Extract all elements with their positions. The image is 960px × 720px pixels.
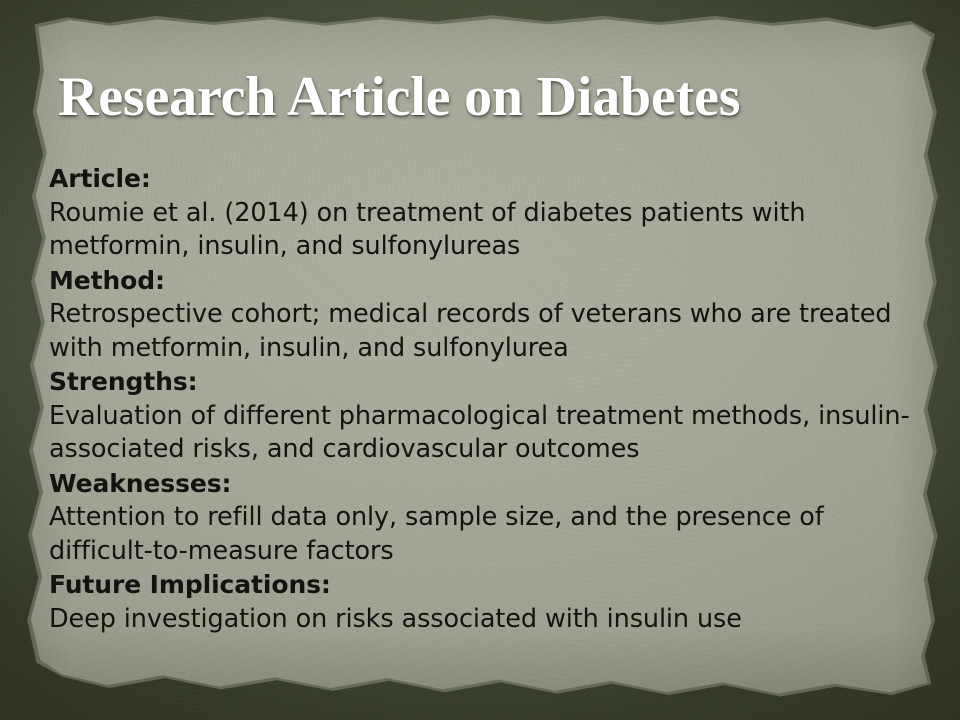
section-body-weaknesses: Attention to refill data only, sample si…	[49, 502, 824, 566]
slide-content: Research Article on Diabetes Article: Ro…	[0, 0, 960, 720]
section-heading-article: Article:	[49, 164, 151, 193]
section-article: Article: Roumie et al. (2014) on treatme…	[49, 162, 917, 264]
slide-body: Article: Roumie et al. (2014) on treatme…	[49, 162, 917, 636]
section-heading-weaknesses: Weaknesses:	[49, 469, 231, 498]
section-method: Method: Retrospective cohort; medical re…	[49, 264, 917, 366]
section-future-implications: Future Implications: Deep investigation …	[49, 568, 917, 636]
slide-title: Research Article on Diabetes	[58, 68, 898, 127]
section-weaknesses: Weaknesses: Attention to refill data onl…	[49, 467, 917, 569]
section-body-future-implications: Deep investigation on risks associated w…	[49, 604, 742, 634]
section-body-article: Roumie et al. (2014) on treatment of dia…	[49, 198, 805, 262]
presentation-slide: Research Article on Diabetes Article: Ro…	[0, 0, 960, 720]
section-heading-future-implications: Future Implications:	[49, 570, 331, 599]
section-heading-method: Method:	[49, 266, 165, 295]
section-heading-strengths: Strengths:	[49, 367, 198, 396]
section-body-strengths: Evaluation of different pharmacological …	[49, 401, 910, 465]
section-body-method: Retrospective cohort; medical records of…	[49, 299, 891, 363]
section-strengths: Strengths: Evaluation of different pharm…	[49, 365, 917, 467]
